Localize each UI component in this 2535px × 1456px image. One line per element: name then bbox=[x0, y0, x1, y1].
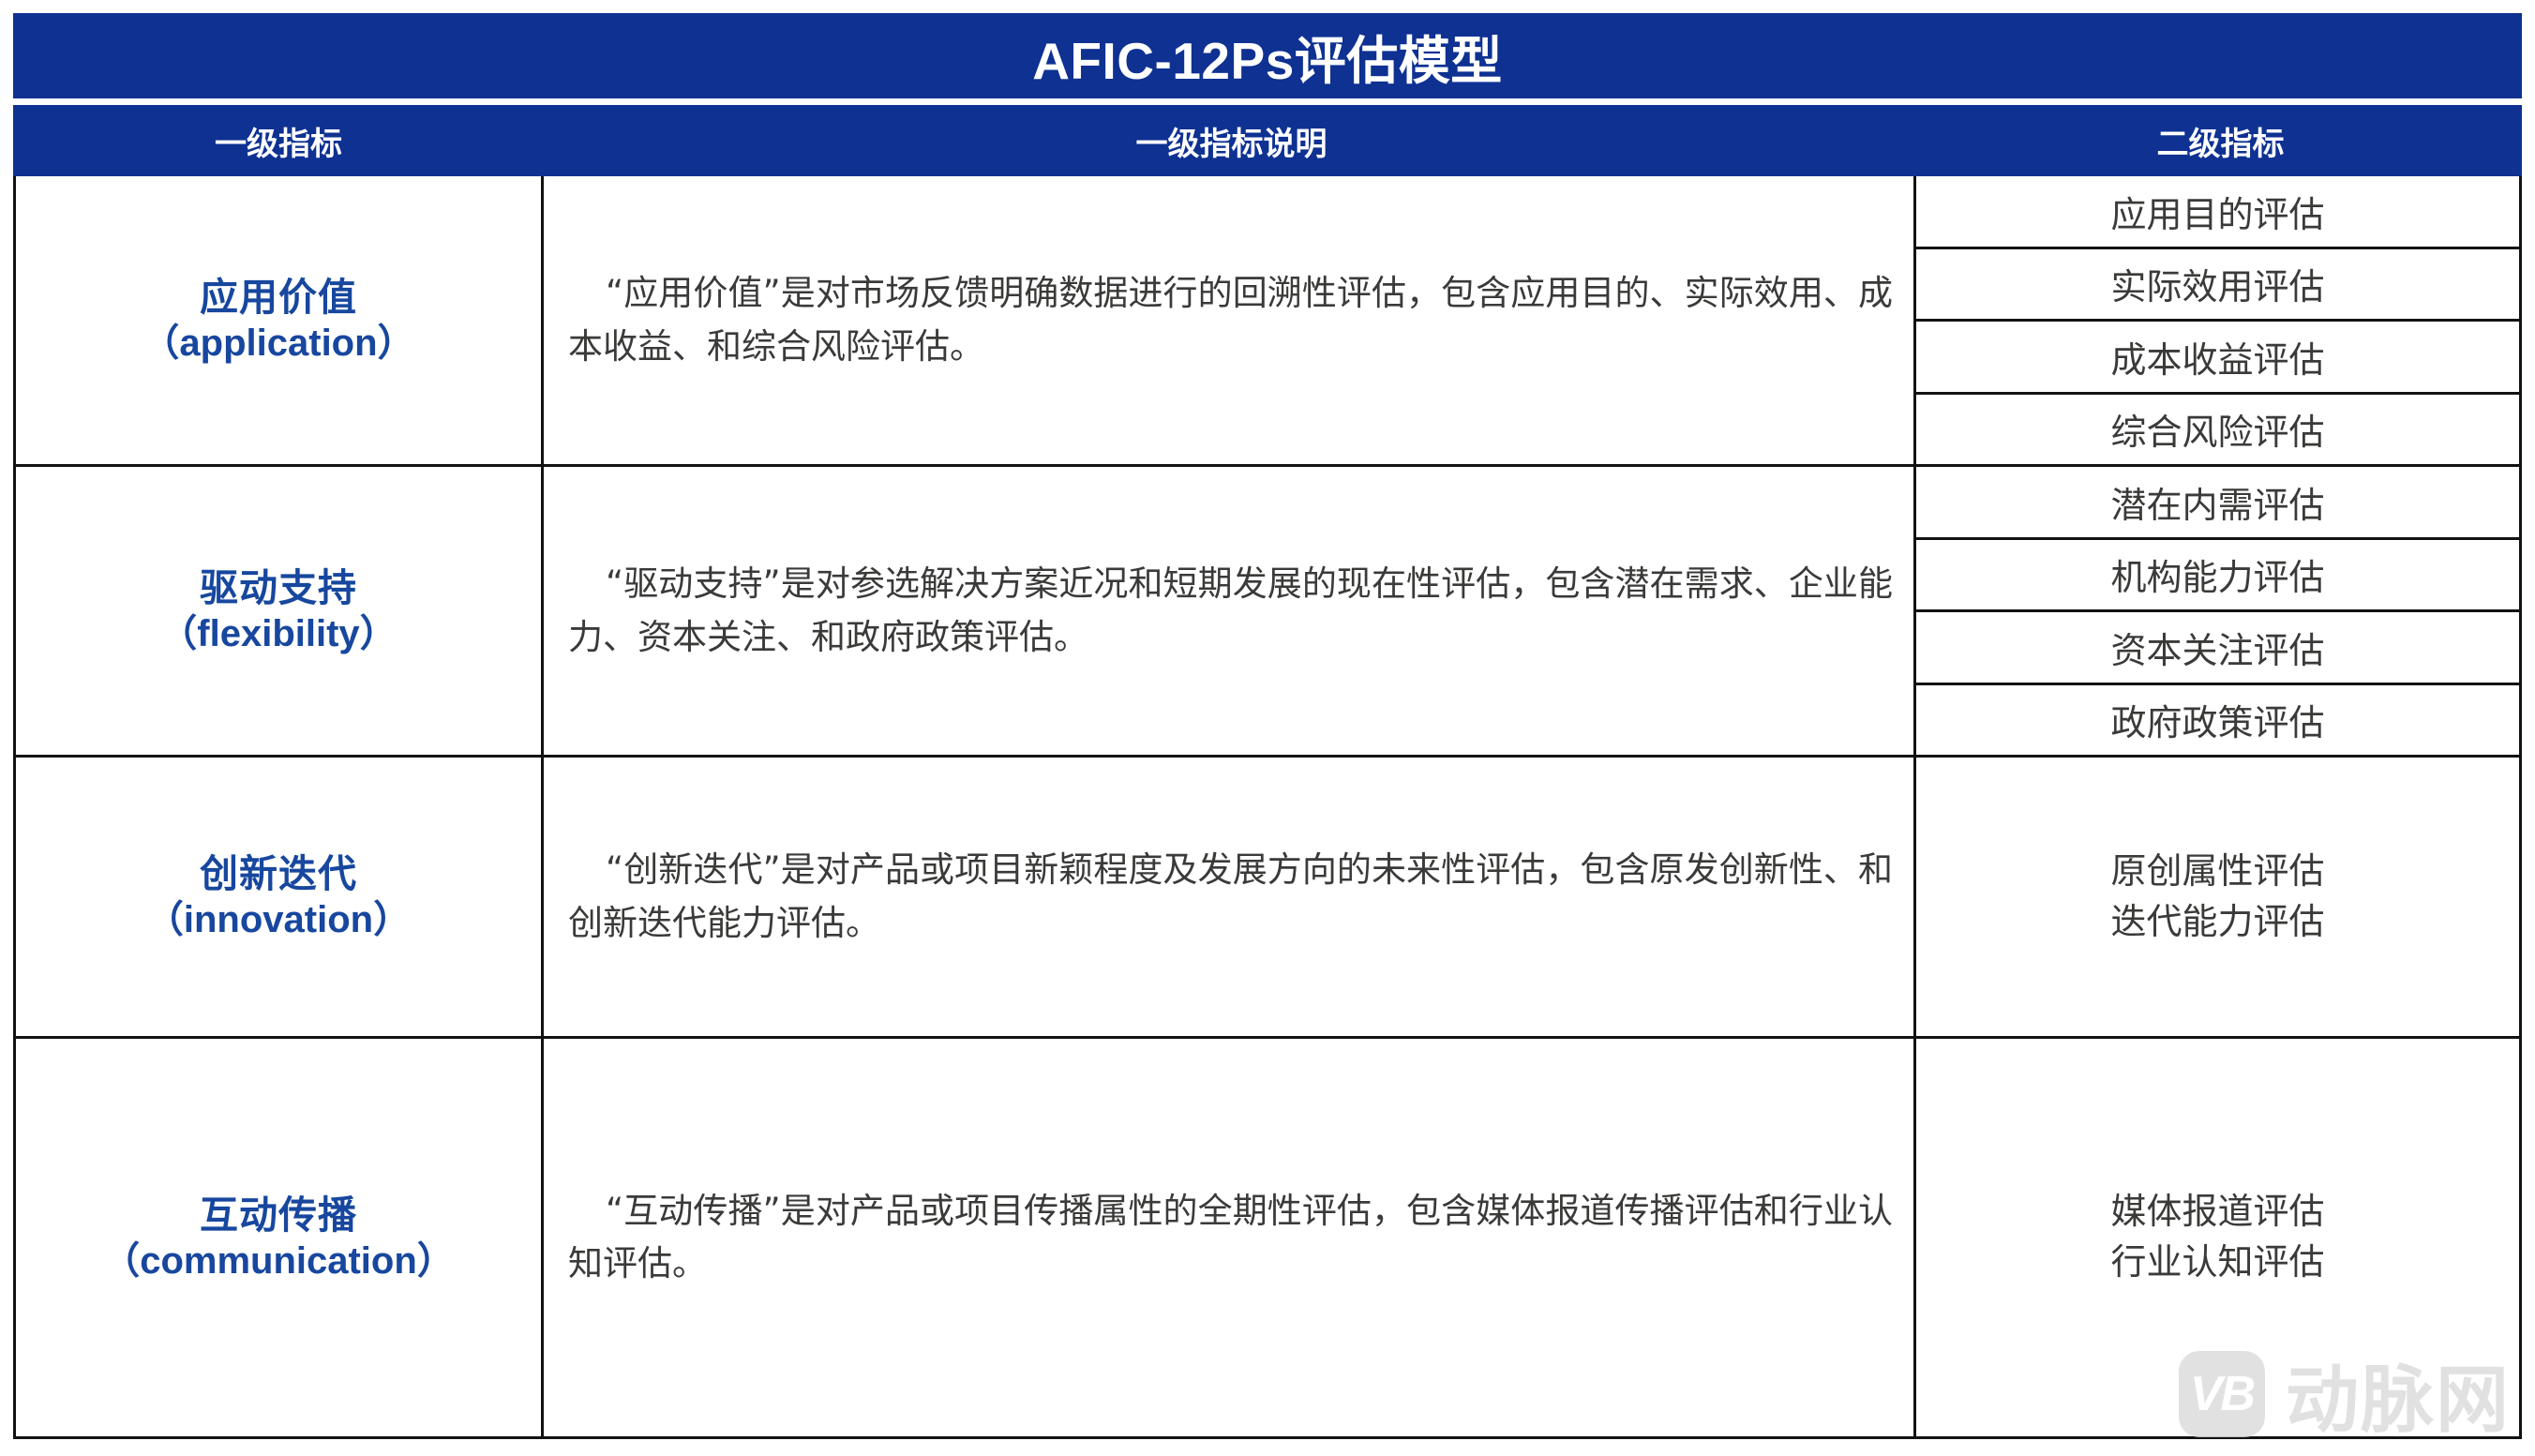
column-header-primary-description: 一级指标说明 bbox=[544, 105, 1919, 176]
secondary-indicator-item: 迭代能力评估 bbox=[2110, 897, 2324, 948]
cell-description: “驱动支持”是对参选解决方案近况和短期发展的现在性评估，包含潜在需求、企业能力、… bbox=[544, 467, 1916, 755]
secondary-indicator-item: 成本收益评估 bbox=[1916, 322, 2519, 395]
column-header-secondary-indicator: 二级指标 bbox=[1919, 105, 2522, 176]
table-row: 互动传播 （communication） “互动传播”是对产品或项目传播属性的全… bbox=[16, 1039, 2519, 1436]
cell-secondary-indicators: 潜在内需评估 机构能力评估 资本关注评估 政府政策评估 bbox=[1916, 467, 2519, 755]
table-body: 应用价值 （application） “应用价值”是对市场反馈明确数据进行的回溯… bbox=[13, 176, 2522, 1439]
cell-description: “互动传播”是对产品或项目传播属性的全期性评估，包含媒体报道传播评估和行业认知评… bbox=[544, 1039, 1916, 1436]
cell-secondary-indicators: 应用目的评估 实际效用评估 成本收益评估 综合风险评估 bbox=[1916, 176, 2519, 464]
primary-indicator-cn: 应用价值 bbox=[200, 274, 357, 321]
secondary-indicator-item: 综合风险评估 bbox=[1916, 395, 2519, 465]
page-title: AFIC-12Ps评估模型 bbox=[1032, 19, 1503, 94]
secondary-indicator-item: 资本关注评估 bbox=[1916, 612, 2519, 685]
table-row: 应用价值 （application） “应用价值”是对市场反馈明确数据进行的回溯… bbox=[16, 176, 2519, 467]
secondary-indicator-item: 政府政策评估 bbox=[1916, 685, 2519, 756]
cell-secondary-indicators: 媒体报道评估 行业认知评估 bbox=[1916, 1039, 2519, 1436]
table-row: 创新迭代 （innovation） “创新迭代”是对产品或项目新颖程度及发展方向… bbox=[16, 758, 2519, 1039]
description-text: “互动传播”是对产品或项目传播属性的全期性评估，包含媒体报道传播评估和行业认知评… bbox=[568, 1185, 1893, 1290]
secondary-indicator-item: 原创属性评估 bbox=[2110, 847, 2324, 897]
table-header-row: 一级指标 一级指标说明 二级指标 bbox=[13, 105, 2522, 176]
secondary-indicator-item: 行业认知评估 bbox=[2110, 1238, 2324, 1288]
description-text: “创新迭代”是对产品或项目新颖程度及发展方向的未来性评估，包含原发创新性、和创新… bbox=[568, 844, 1893, 949]
secondary-indicator-item: 应用目的评估 bbox=[1916, 176, 2519, 249]
cell-description: “应用价值”是对市场反馈明确数据进行的回溯性评估，包含应用目的、实际效用、成本收… bbox=[544, 176, 1916, 464]
cell-primary-indicator: 互动传播 （communication） bbox=[16, 1039, 544, 1436]
description-text: “驱动支持”是对参选解决方案近况和短期发展的现在性评估，包含潜在需求、企业能力、… bbox=[568, 558, 1893, 663]
primary-indicator-en: （application） bbox=[142, 321, 414, 367]
primary-indicator-cn: 驱动支持 bbox=[200, 564, 357, 611]
cell-primary-indicator: 驱动支持 （flexibility） bbox=[16, 467, 544, 755]
table-title-bar: AFIC-12Ps评估模型 bbox=[13, 13, 2522, 98]
document-sheet: AFIC-12Ps评估模型 一级指标 一级指标说明 二级指标 应用价值 （app… bbox=[0, 0, 2535, 1456]
primary-indicator-en: （innovation） bbox=[146, 897, 411, 943]
cell-secondary-indicators: 原创属性评估 迭代能力评估 bbox=[1916, 758, 2519, 1036]
secondary-indicator-item: 潜在内需评估 bbox=[1916, 467, 2519, 540]
primary-indicator-en: （flexibility） bbox=[159, 611, 397, 657]
primary-indicator-cn: 互动传播 bbox=[200, 1192, 357, 1238]
cell-primary-indicator: 应用价值 （application） bbox=[16, 176, 544, 464]
cell-description: “创新迭代”是对产品或项目新颖程度及发展方向的未来性评估，包含原发创新性、和创新… bbox=[544, 758, 1916, 1036]
column-header-primary-indicator: 一级指标 bbox=[13, 105, 544, 176]
secondary-indicator-item: 实际效用评估 bbox=[1916, 249, 2519, 323]
cell-primary-indicator: 创新迭代 （innovation） bbox=[16, 758, 544, 1036]
secondary-indicator-item: 媒体报道评估 bbox=[2110, 1187, 2324, 1238]
table-row: 驱动支持 （flexibility） “驱动支持”是对参选解决方案近况和短期发展… bbox=[16, 467, 2519, 758]
secondary-indicator-item: 机构能力评估 bbox=[1916, 540, 2519, 613]
primary-indicator-cn: 创新迭代 bbox=[200, 850, 357, 897]
description-text: “应用价值”是对市场反馈明确数据进行的回溯性评估，包含应用目的、实际效用、成本收… bbox=[568, 267, 1893, 372]
primary-indicator-en: （communication） bbox=[102, 1238, 455, 1284]
